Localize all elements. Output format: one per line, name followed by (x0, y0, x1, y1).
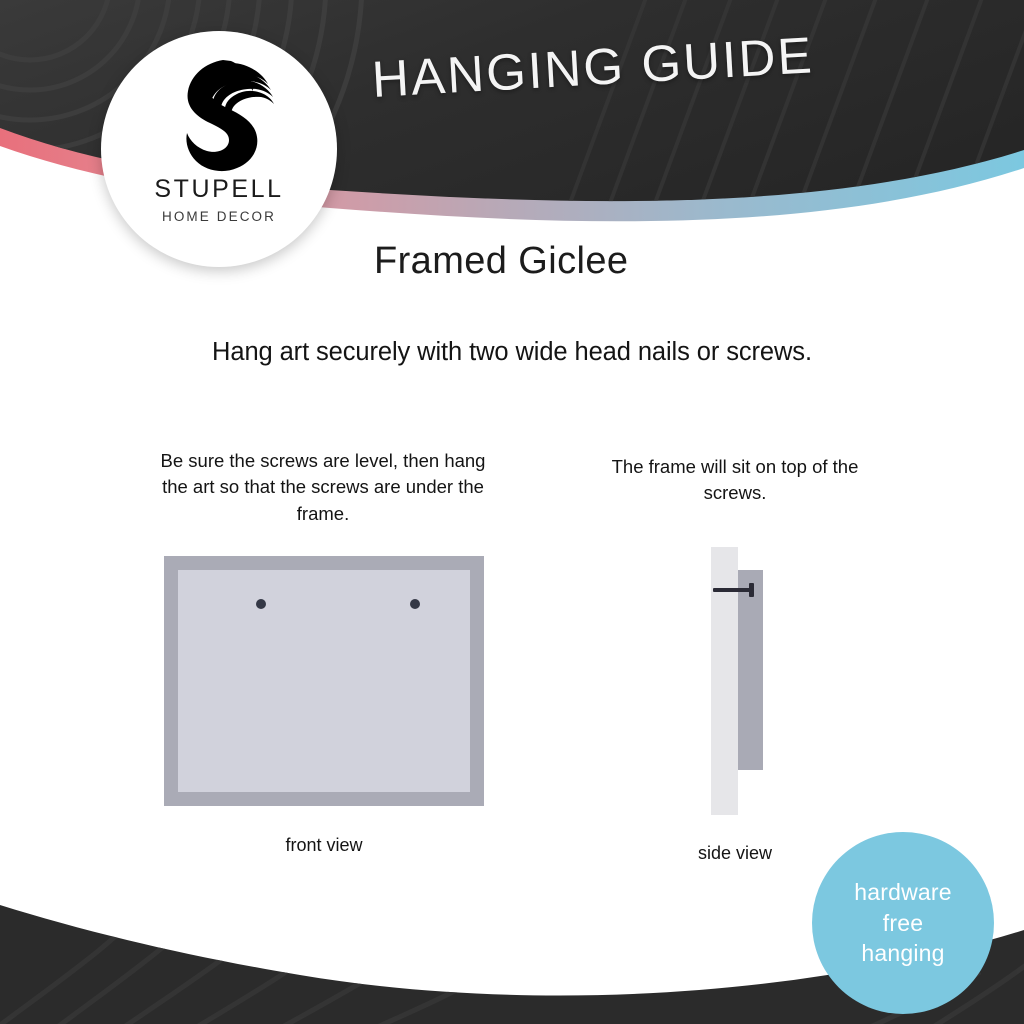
side-view-frame (738, 570, 763, 770)
badge-line-3: hanging (861, 938, 944, 969)
front-view-art-panel (178, 570, 470, 792)
hardware-free-hanging-badge: hardware free hanging (812, 832, 994, 1014)
main-instruction-text: Hang art securely with two wide head nai… (0, 338, 1024, 367)
front-view-caption: Be sure the screws are level, then hang … (150, 448, 496, 527)
screw-dot-left-icon (256, 599, 266, 609)
brand-logo-badge: STUPELL HOME DECOR (101, 31, 337, 267)
product-type-label: Framed Giclee (374, 240, 628, 283)
side-view-caption: The frame will sit on top of the screws. (600, 454, 870, 507)
front-view-diagram (164, 556, 484, 806)
stupell-swoosh-icon (163, 57, 275, 175)
logo-brand-name: STUPELL (154, 177, 283, 202)
hanging-guide-page: STUPELL HOME DECOR HANGING GUIDE Framed … (0, 0, 1024, 1024)
nail-head-icon (749, 583, 754, 597)
front-view-label: front view (164, 835, 484, 856)
page-title: HANGING GUIDE (370, 21, 892, 109)
logo-tagline: HOME DECOR (162, 209, 276, 224)
side-view-label: side view (655, 843, 815, 864)
screw-dot-right-icon (410, 599, 420, 609)
badge-line-1: hardware (854, 877, 952, 908)
nail-shaft-icon (713, 588, 752, 592)
badge-line-2: free (883, 908, 923, 939)
